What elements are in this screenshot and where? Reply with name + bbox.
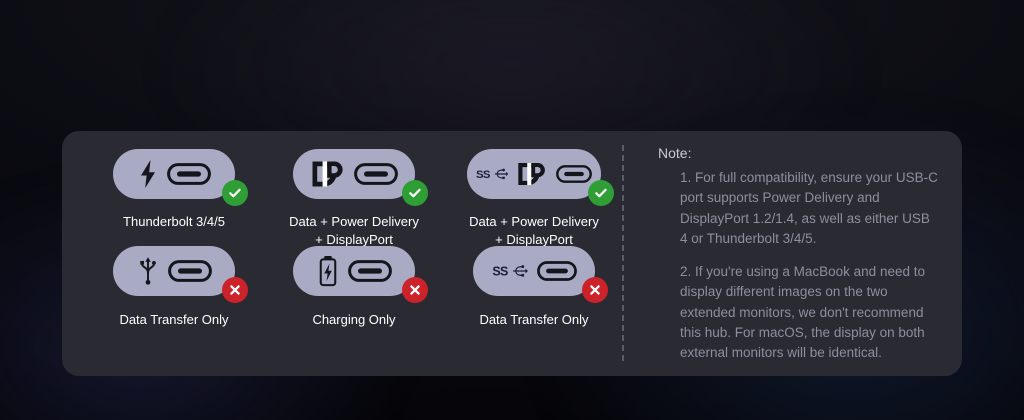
badge-wrapper: SS [467,149,601,199]
badge-wrapper [113,149,235,199]
usb-c-port-icon [348,260,392,282]
port-badge [293,149,415,199]
svg-text:SS: SS [492,264,508,278]
compatibility-item-label: Data Transfer Only [119,311,228,329]
thunderbolt-icon [138,159,158,189]
compatibility-item[interactable]: Charging Only [264,246,444,329]
status-badge-supported [588,180,614,206]
compatibility-item-label: Data Transfer Only [479,311,588,329]
port-badge: SS [467,149,601,199]
compatibility-item[interactable]: Data + Power Delivery + DisplayPort [264,149,444,246]
usb-c-port-icon [556,165,592,183]
displayport-icon [517,160,547,188]
compatibility-item-label: Charging Only [312,311,395,329]
status-badge-unsupported [402,277,428,303]
port-badge [113,149,235,199]
displayport-icon [311,159,345,189]
badge-wrapper [293,149,415,199]
port-badge: SS [473,246,595,296]
compatibility-item[interactable]: SS [444,149,624,246]
note-heading: Note: [658,145,938,161]
compatibility-item[interactable]: Data Transfer Only [84,246,264,329]
compatibility-item-label: Data + Power Delivery + DisplayPort [469,213,599,248]
usb-superspeed-icon: SS [476,164,508,184]
page-root: Check your Laptop's Compatibility Confir… [0,0,1024,420]
battery-charging-icon [317,255,339,287]
usb-c-port-icon [537,261,577,281]
x-circle-icon [407,282,423,298]
check-circle-icon [227,185,243,201]
check-circle-icon [593,185,609,201]
badge-wrapper: SS [473,246,595,296]
compatibility-item[interactable]: Thunderbolt 3/4/5 [84,149,264,246]
status-badge-unsupported [222,277,248,303]
badge-wrapper [113,246,235,296]
port-badge [293,246,415,296]
vertical-dashed-divider [622,145,624,361]
usb-trident-icon [137,256,159,286]
svg-text:SS: SS [476,169,491,181]
status-badge-unsupported [582,277,608,303]
usb-c-port-icon [167,163,211,185]
x-circle-icon [587,282,603,298]
note-item: 2. If you're using a MacBook and need to… [658,262,938,363]
usb-c-port-icon [354,163,398,185]
status-badge-supported [402,180,428,206]
x-circle-icon [227,282,243,298]
status-badge-supported [222,180,248,206]
compatibility-item[interactable]: SS [444,246,624,329]
port-badge [113,246,235,296]
compatibility-card: Thunderbolt 3/4/5 [62,131,962,376]
compatibility-item-label: Thunderbolt 3/4/5 [123,213,225,231]
check-circle-icon [407,185,423,201]
compatibility-grid-panel: Thunderbolt 3/4/5 [62,131,622,376]
compatibility-grid: Thunderbolt 3/4/5 [84,149,622,329]
badge-wrapper [293,246,415,296]
usb-superspeed-icon: SS [492,260,528,282]
compatibility-item-label: Data + Power Delivery + DisplayPort [289,213,419,248]
note-item: 1. For full compatibility, ensure your U… [658,168,938,249]
note-panel: Note: 1. For full compatibility, ensure … [622,131,962,376]
usb-c-port-icon [168,260,212,282]
